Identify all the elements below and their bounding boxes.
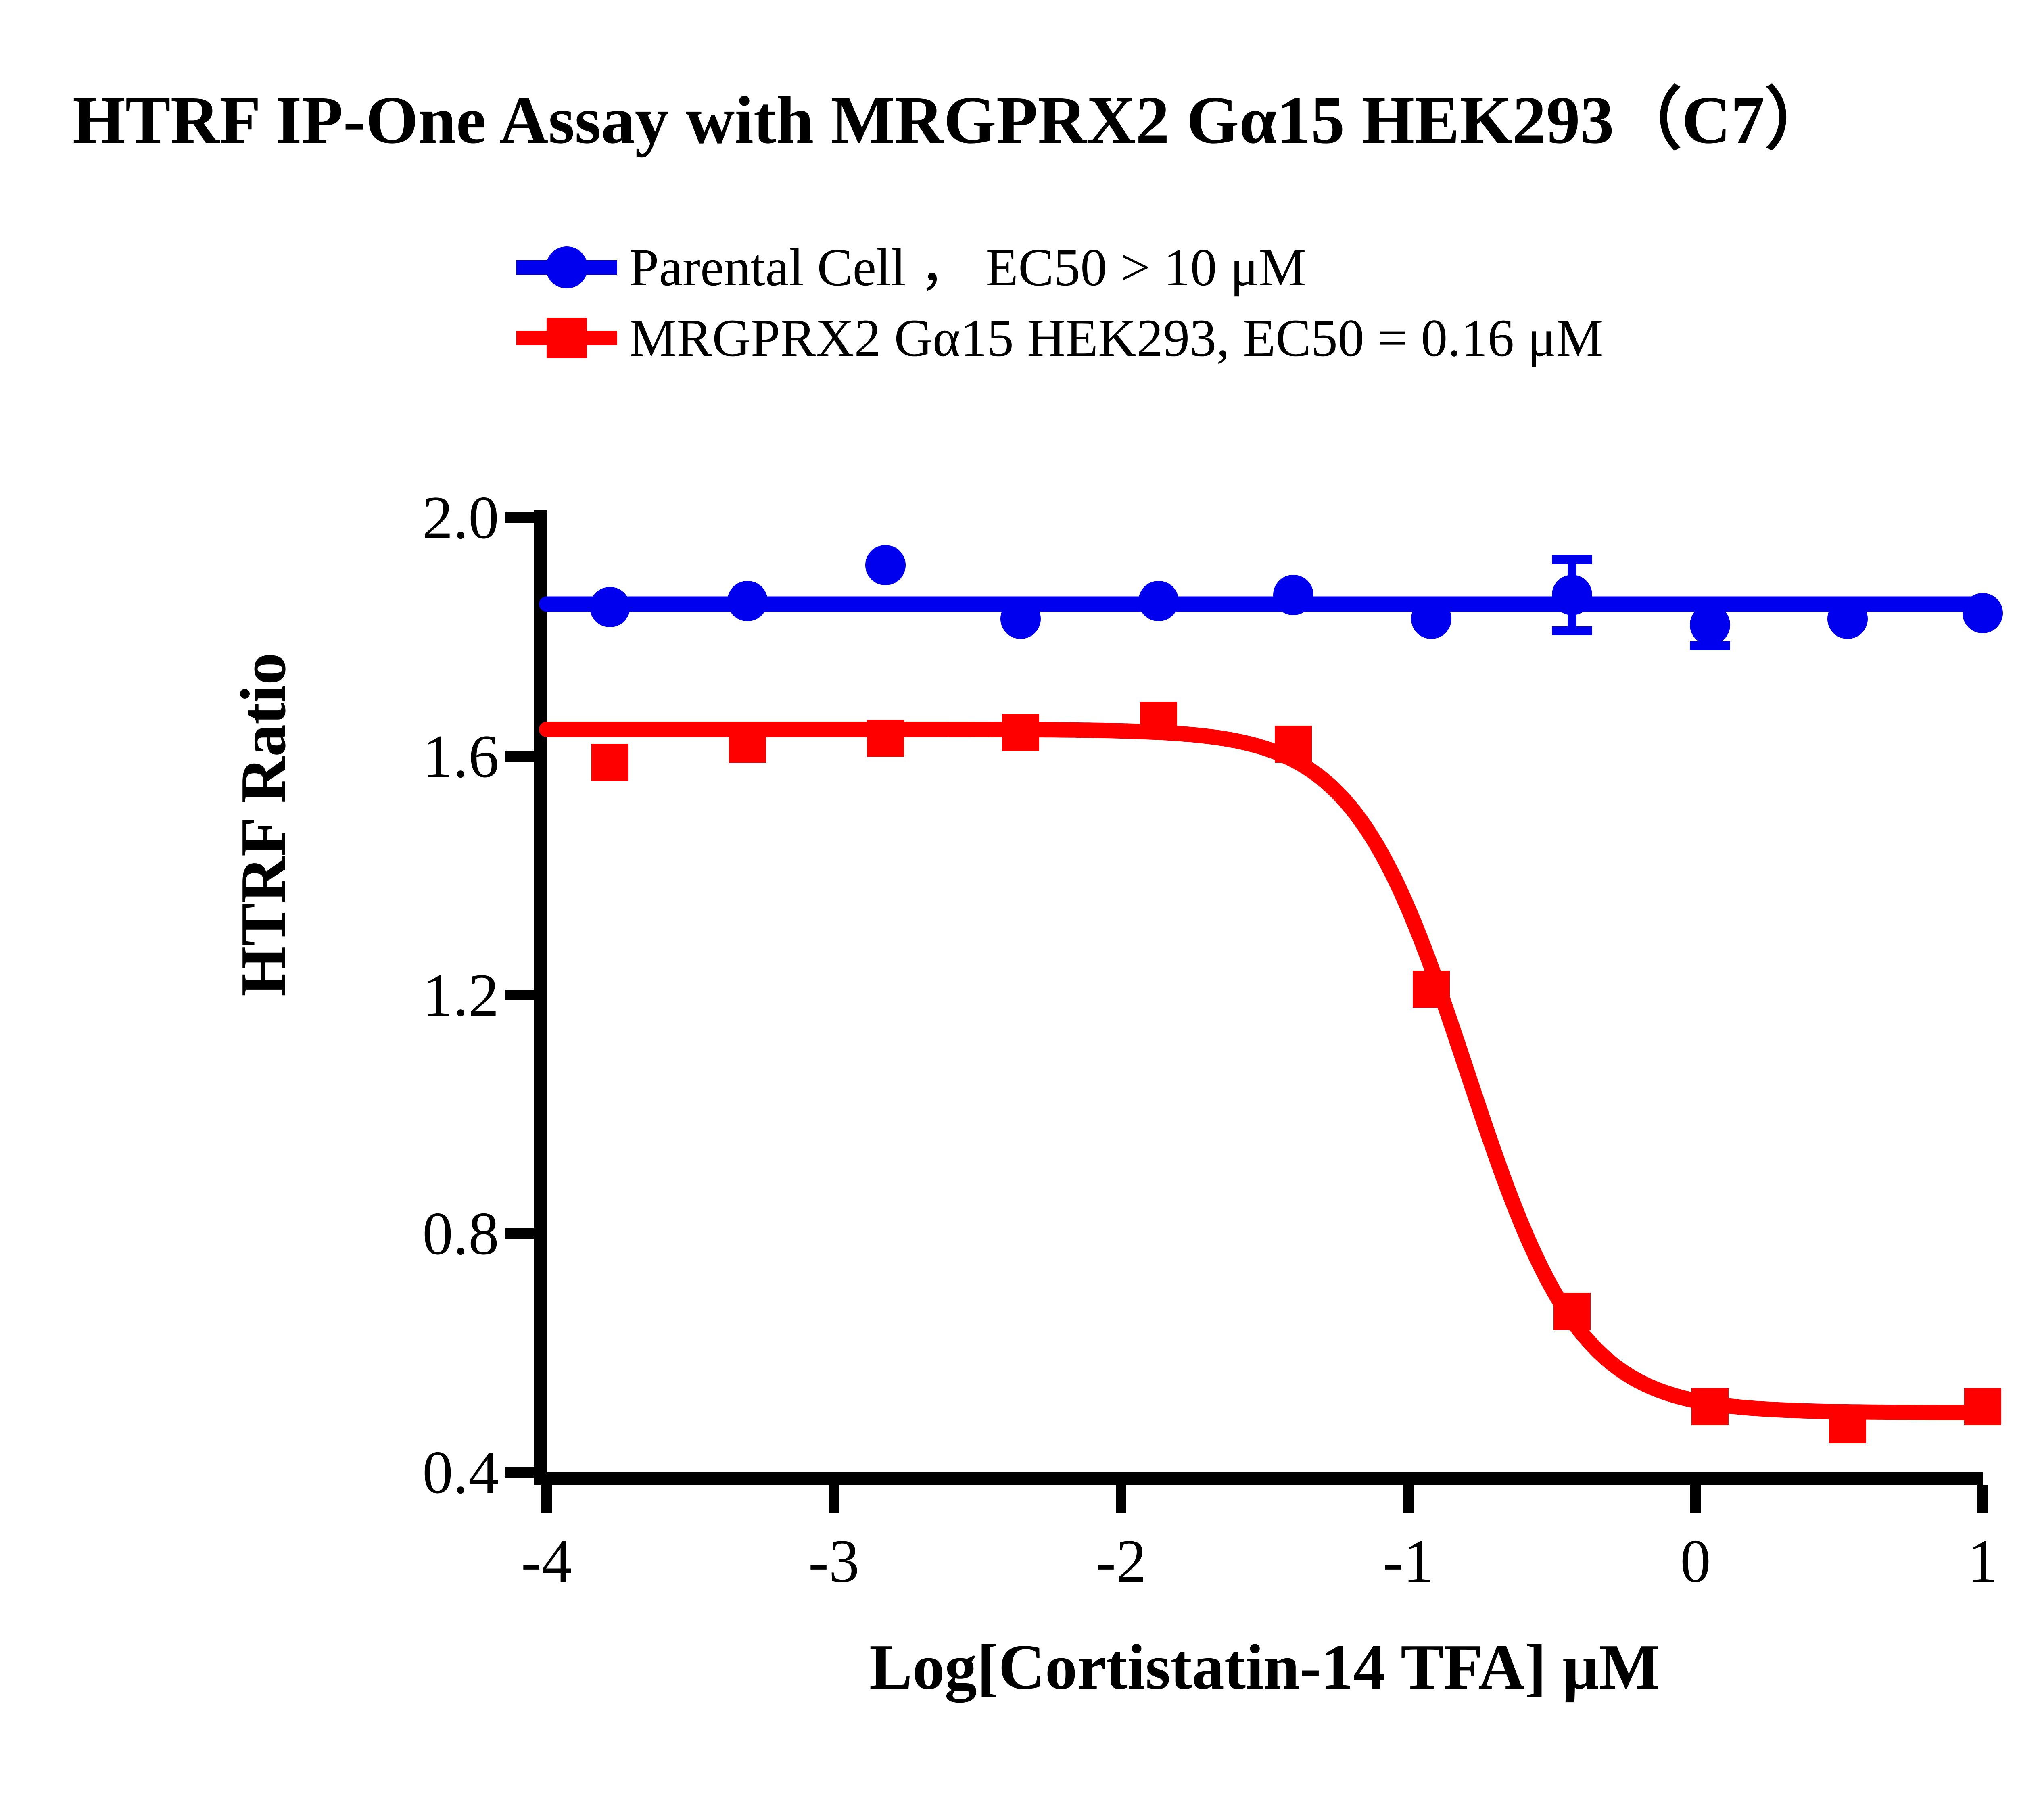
square-data-point <box>591 744 628 781</box>
square-marker-icon <box>547 318 587 358</box>
circle-data-point <box>1963 593 2003 633</box>
x-axis-line <box>534 1472 1983 1485</box>
legend-label-parental-cell: Parental Cell ， EC50 > 10 μM <box>629 241 1306 294</box>
y-tick-label: 0.4 <box>422 1437 499 1507</box>
y-tick <box>505 512 534 523</box>
y-tick-label: 2.0 <box>422 482 499 553</box>
y-tick-label: 1.2 <box>422 960 499 1030</box>
plot-area: 0.40.81.21.62.0 -4-3-2-101 <box>547 518 1983 1472</box>
y-tick <box>505 1467 534 1478</box>
x-tick <box>1977 1485 1988 1513</box>
y-axis-line <box>534 510 547 1480</box>
circle-data-point <box>1827 599 1868 639</box>
chart-legend: Parental Cell ， EC50 > 10 μM MRGPRX2 Gα1… <box>516 232 1604 373</box>
circle-data-point <box>1138 581 1179 621</box>
y-axis-title: HTRF Ratio <box>226 653 301 996</box>
y-tick <box>505 990 534 1000</box>
circle-data-point <box>1690 605 1730 645</box>
circle-data-point <box>1552 575 1592 615</box>
circle-data-point <box>1411 599 1451 639</box>
square-data-point <box>1140 702 1177 739</box>
y-tick-label: 0.8 <box>422 1198 499 1269</box>
series-curves <box>547 518 1983 1472</box>
error-bar-cap <box>1552 626 1592 635</box>
legend-label-mrgprx2: MRGPRX2 Gα15 HEK293, EC50 = 0.16 μM <box>629 311 1604 365</box>
chart-title: HTRF IP-One Assay with MRGPRX2 Gα15 HEK2… <box>73 65 2017 163</box>
circle-data-point <box>865 545 906 585</box>
y-tick <box>505 751 534 762</box>
square-data-point <box>1002 714 1039 751</box>
x-tick-label: 0 <box>1680 1526 1711 1596</box>
legend-item-mrgprx2[interactable]: MRGPRX2 Gα15 HEK293, EC50 = 0.16 μM <box>516 303 1604 373</box>
circle-data-point <box>1000 599 1041 639</box>
x-tick-label: -1 <box>1383 1526 1434 1596</box>
x-tick <box>1403 1485 1414 1513</box>
x-axis-title: Log[Cortistatin-14 TFA] μM <box>547 1630 1983 1704</box>
x-tick <box>1116 1485 1126 1513</box>
circle-data-point <box>727 581 768 621</box>
legend-item-parental-cell[interactable]: Parental Cell ， EC50 > 10 μM <box>516 232 1604 303</box>
square-data-point <box>1413 971 1450 1008</box>
fit-curve <box>547 729 1983 1413</box>
square-data-point <box>1691 1388 1729 1425</box>
x-tick <box>1690 1485 1701 1513</box>
x-tick <box>541 1485 552 1513</box>
x-tick-label: 1 <box>1967 1526 1998 1596</box>
chart-figure: HTRF IP-One Assay with MRGPRX2 Gα15 HEK2… <box>0 0 2017 1820</box>
square-data-point <box>729 726 766 763</box>
square-data-point <box>1964 1388 2001 1425</box>
circle-marker-icon <box>546 246 588 288</box>
square-data-point <box>867 720 904 757</box>
legend-key-parental-cell <box>516 249 617 286</box>
y-tick <box>505 1228 534 1239</box>
square-data-point <box>1829 1406 1866 1443</box>
x-tick-label: -3 <box>808 1526 860 1596</box>
x-tick <box>829 1485 839 1513</box>
square-data-point <box>1275 726 1312 763</box>
error-bar-cap <box>1552 555 1592 564</box>
square-data-point <box>1553 1293 1591 1330</box>
circle-data-point <box>590 587 630 627</box>
x-tick-label: -2 <box>1096 1526 1147 1596</box>
circle-data-point <box>1273 575 1313 615</box>
y-tick-label: 1.6 <box>422 721 499 791</box>
x-tick-label: -4 <box>521 1526 572 1596</box>
legend-key-mrgprx2 <box>516 320 617 356</box>
